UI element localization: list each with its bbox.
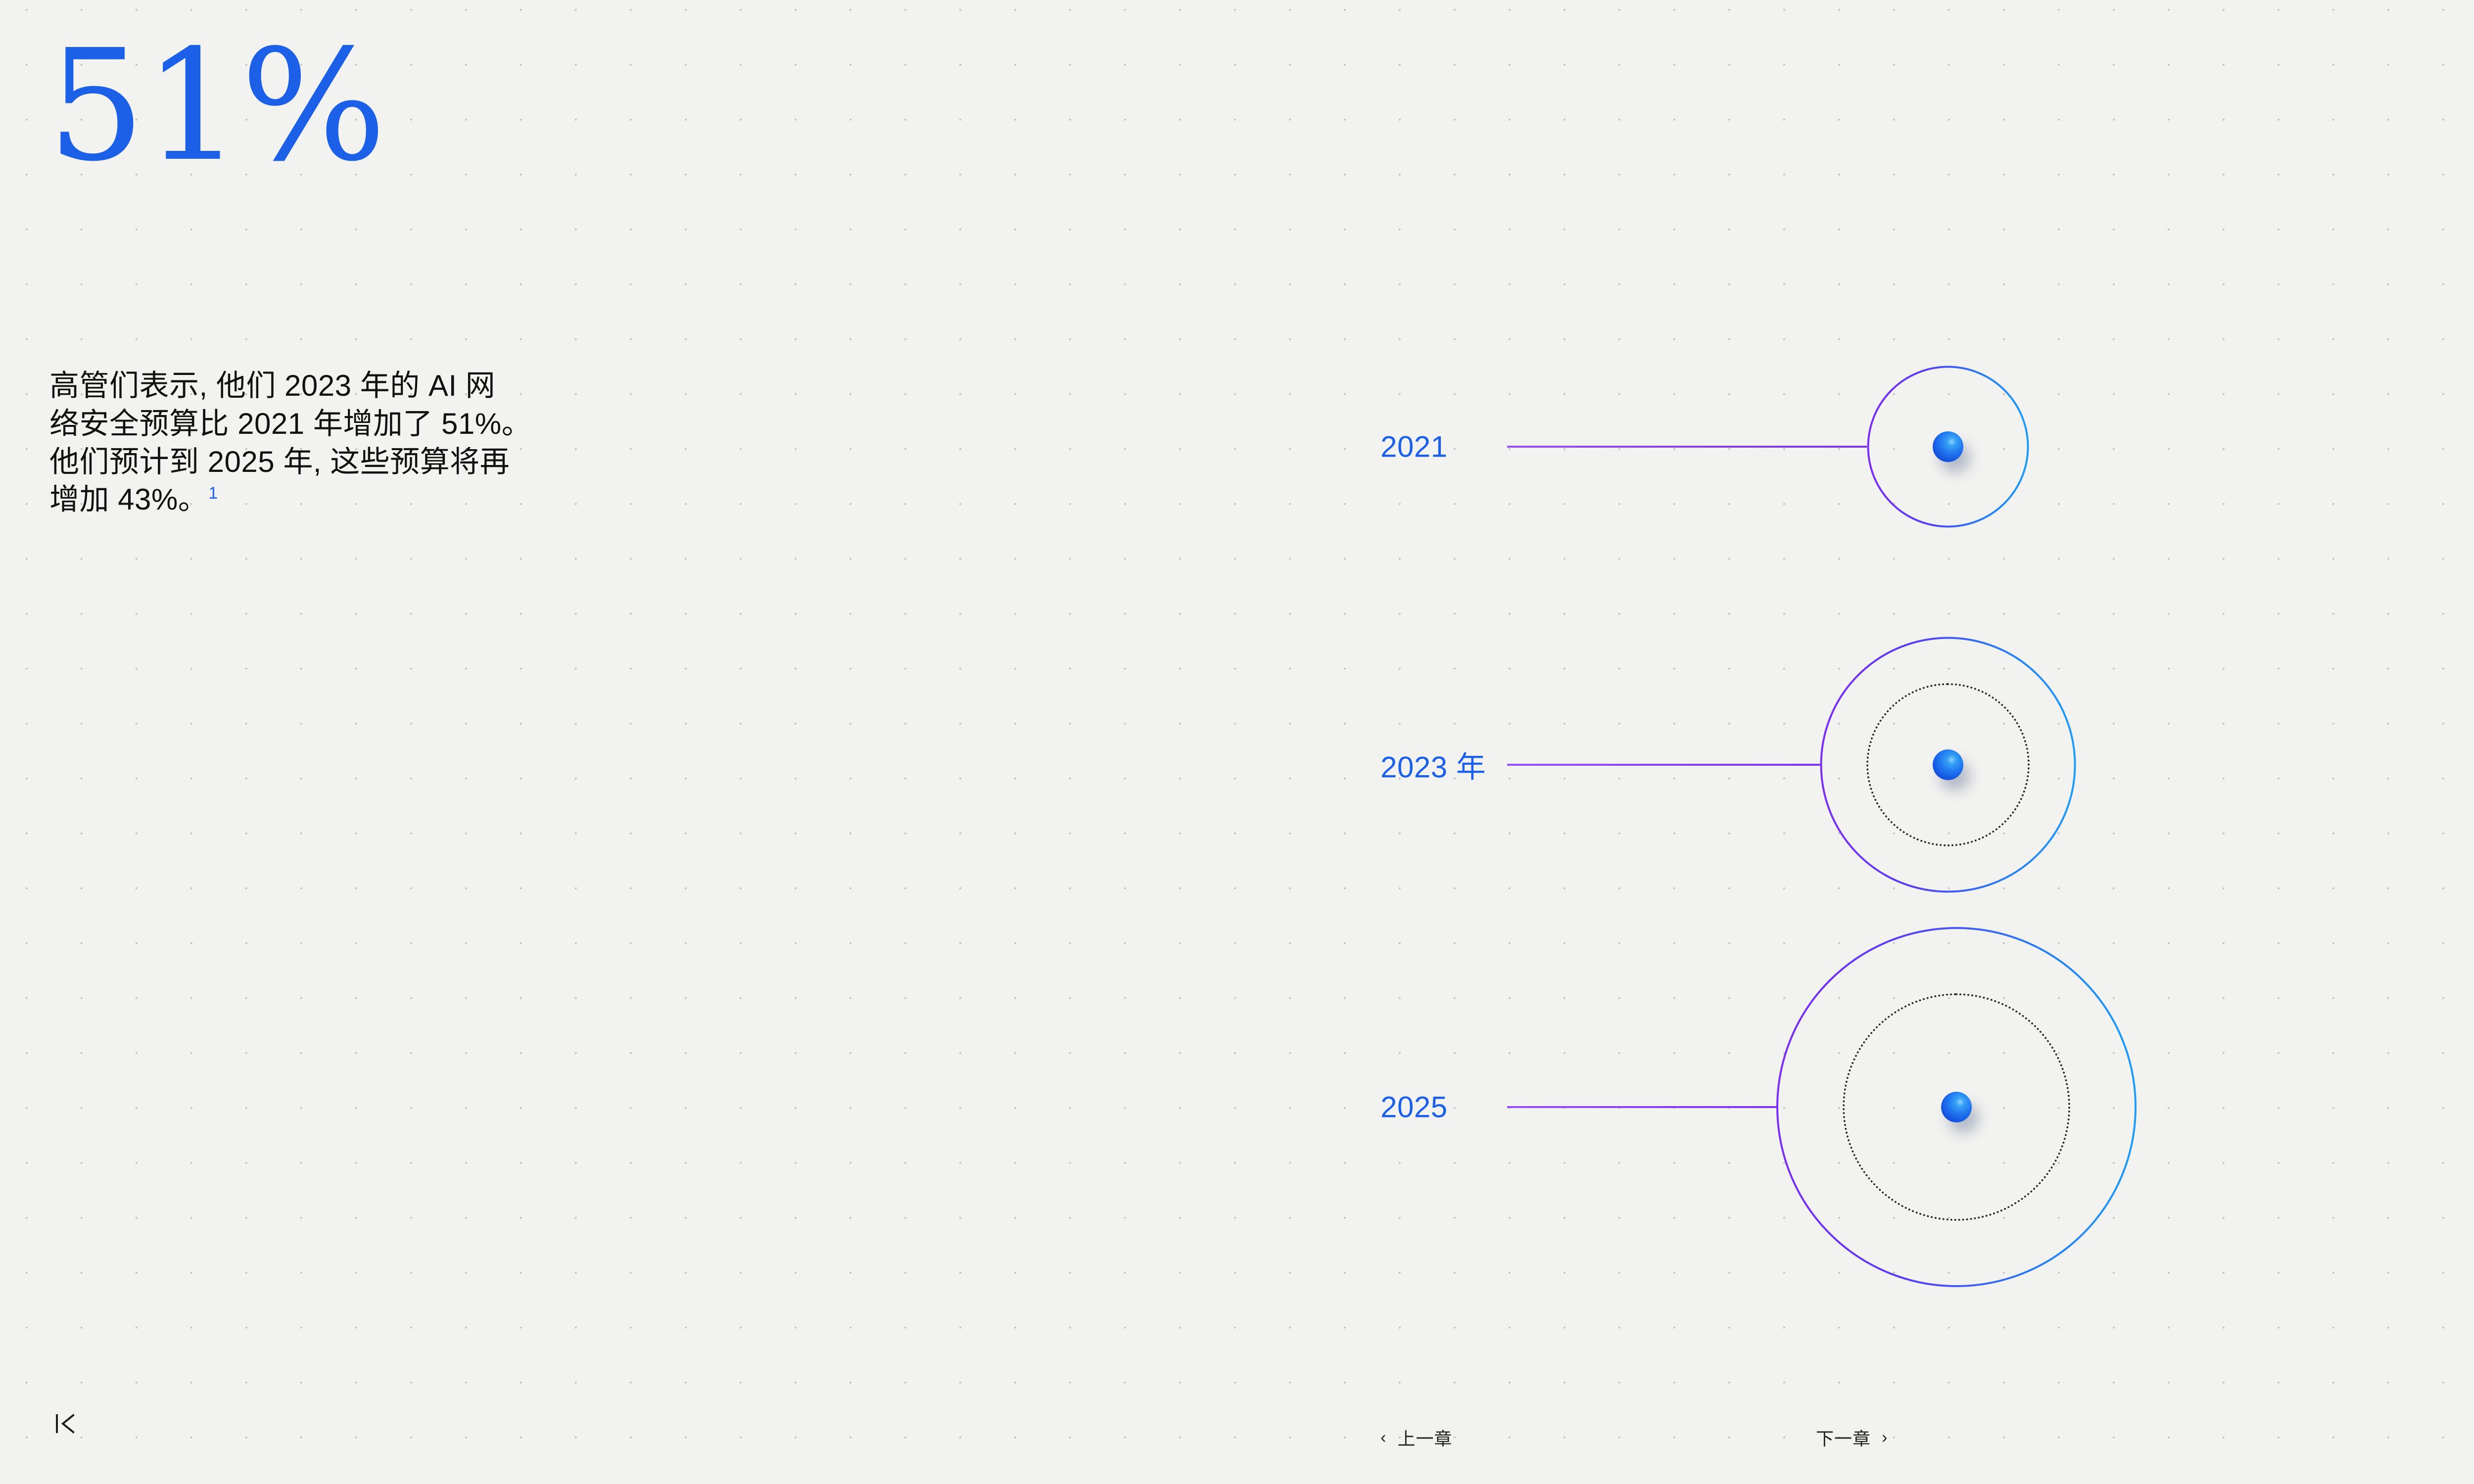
connector-line-2021 [1507,446,1867,448]
value-sphere-2023 [1933,749,1963,780]
chevron-right-icon: › [1882,1429,1888,1446]
value-sphere-2025 [1941,1092,1972,1122]
value-sphere-2021 [1933,431,1963,462]
prev-chapter-button[interactable]: ‹ 上一章 [1380,1425,1452,1450]
next-chapter-label: 下一章 [1816,1425,1871,1450]
bubble-growth-diagram: 2021 2023 [0,0,2474,1484]
year-label-2025: 2025 [1380,1090,1447,1124]
connector-line-2023 [1507,764,1821,766]
prev-chapter-label: 上一章 [1397,1425,1452,1450]
year-label-2021: 2021 [1380,430,1447,464]
next-chapter-button[interactable]: 下一章 › [1816,1425,1888,1450]
connector-line-2025 [1507,1106,1778,1108]
year-label-2023: 2023 年 [1380,743,1486,787]
slide-page: 51% 高管们表示, 他们 2023 年的 AI 网 络安全预算比 2021 年… [0,0,2474,1484]
bottom-navigation-bar: ‹ 上一章 下一章 › [0,1395,2474,1484]
chevron-left-icon: ‹ [1380,1429,1386,1446]
